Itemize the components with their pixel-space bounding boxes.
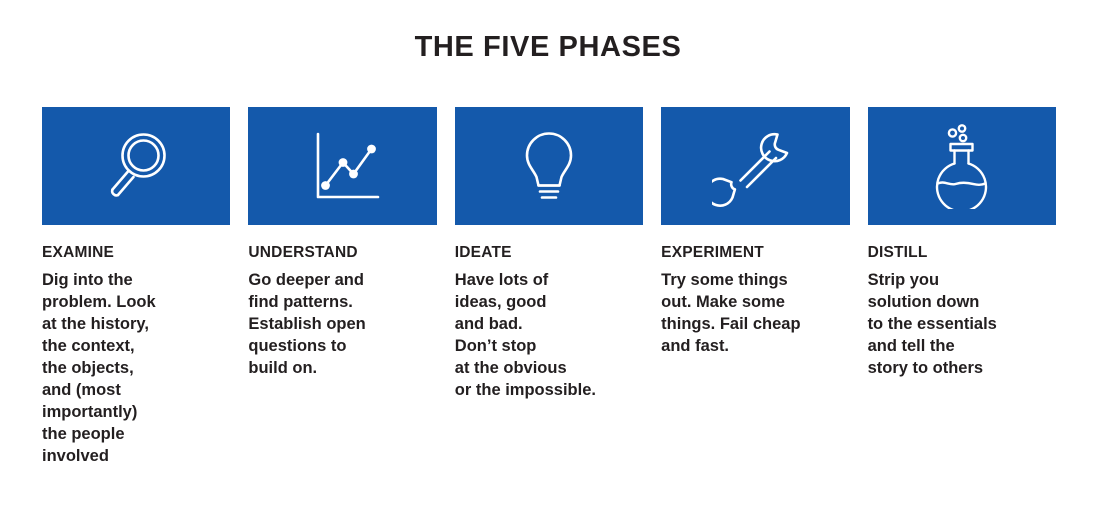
lightbulb-icon (506, 123, 592, 209)
phase-body: Try some things out. Make some things. F… (661, 270, 849, 358)
line-chart-icon (300, 123, 386, 209)
phase-heading: EXPERIMENT (661, 244, 849, 261)
phase-card-understand: UNDERSTAND Go deeper and find patterns. … (248, 107, 436, 380)
phase-icon-tile-examine (42, 107, 230, 225)
phase-icon-tile-ideate (455, 107, 643, 225)
phase-icon-tile-experiment (661, 107, 849, 225)
magnifying-glass-icon (93, 123, 179, 209)
five-phases-infographic: THE FIVE PHASES EXAMINE Dig into the pro… (0, 0, 1096, 520)
phase-heading: EXAMINE (42, 244, 230, 261)
phase-body: Go deeper and find patterns. Establish o… (248, 270, 436, 380)
phase-heading: IDEATE (455, 244, 643, 261)
phase-icon-tile-distill (868, 107, 1056, 225)
phase-card-experiment: EXPERIMENT Try some things out. Make som… (661, 107, 849, 358)
phases-row: EXAMINE Dig into the problem. Look at th… (42, 107, 1056, 467)
phase-icon-tile-understand (248, 107, 436, 225)
phase-body: Dig into the problem. Look at the histor… (42, 270, 230, 467)
phase-card-ideate: IDEATE Have lots of ideas, good and bad.… (455, 107, 643, 402)
wrench-icon (712, 123, 798, 209)
flask-icon (919, 123, 1005, 209)
phase-body: Have lots of ideas, good and bad. Don’t … (455, 270, 643, 402)
phase-card-examine: EXAMINE Dig into the problem. Look at th… (42, 107, 230, 467)
page-title: THE FIVE PHASES (0, 32, 1096, 64)
phase-heading: UNDERSTAND (248, 244, 436, 261)
phase-card-distill: DISTILL Strip you solution down to the e… (868, 107, 1056, 380)
phase-body: Strip you solution down to the essential… (868, 270, 1056, 380)
phase-heading: DISTILL (868, 244, 1056, 261)
